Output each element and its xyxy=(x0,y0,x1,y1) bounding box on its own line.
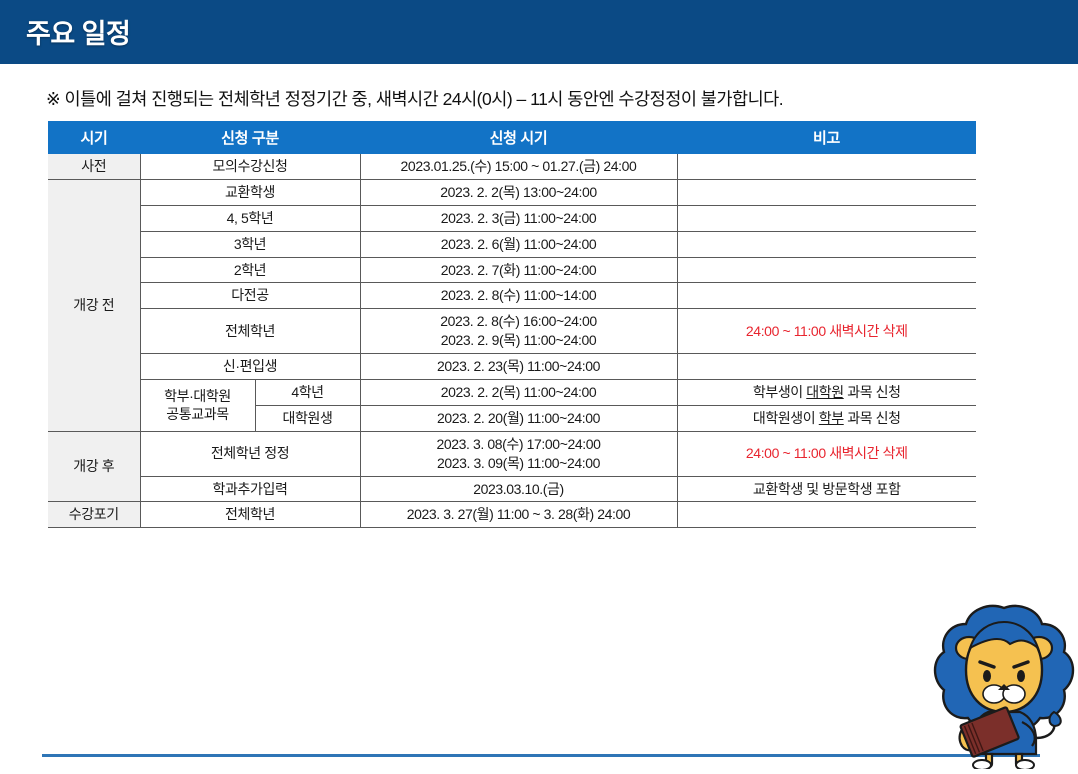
table-row: 3학년 2023. 2. 6(월) 11:00~24:00 xyxy=(48,231,976,257)
cell-note xyxy=(677,154,976,179)
cell-time: 2023. 2. 8(수) 11:00~14:00 xyxy=(360,283,677,309)
cell-note xyxy=(677,179,976,205)
table-row: 학부·대학원 공통교과목 4학년 2023. 2. 2(목) 11:00~24:… xyxy=(48,380,976,406)
cell-subcategory: 4학년 xyxy=(255,380,360,406)
cell-category: 2학년 xyxy=(140,257,360,283)
cell-stage: 개강 전 xyxy=(48,179,140,431)
cell-time-line2: 2023. 3. 09(목) 11:00~24:00 xyxy=(365,454,673,473)
schedule-note: ※ 이틀에 걸쳐 진행되는 전체학년 정정기간 중, 새벽시간 24시(0시) … xyxy=(46,86,783,111)
cell-time: 2023. 2. 7(화) 11:00~24:00 xyxy=(360,257,677,283)
cell-note: 학부생이 대학원 과목 신청 xyxy=(677,380,976,406)
cell-note-alert: 24:00 ~ 11:00 새벽시간 삭제 xyxy=(677,309,976,354)
table-row: 4, 5학년 2023. 2. 3(금) 11:00~24:00 xyxy=(48,205,976,231)
cell-category-group: 학부·대학원 공통교과목 xyxy=(140,380,255,432)
note-prefix: 대학원생이 xyxy=(753,410,819,426)
lion-mascot-icon xyxy=(930,604,1078,769)
cell-time: 2023. 3. 08(수) 17:00~24:00 2023. 3. 09(목… xyxy=(360,431,677,476)
table-row: 사전 모의수강신청 2023.01.25.(수) 15:00 ~ 01.27.(… xyxy=(48,154,976,179)
schedule-table: 시기 신청 구분 신청 시기 비고 사전 모의수강신청 2023.01.25.(… xyxy=(48,121,976,528)
table-header-row: 시기 신청 구분 신청 시기 비고 xyxy=(48,121,976,154)
page-title: 주요 일정 xyxy=(26,12,130,51)
cell-time: 2023. 2. 3(금) 11:00~24:00 xyxy=(360,205,677,231)
table-row: 학과추가입력 2023.03.10.(금) 교환학생 및 방문학생 포함 xyxy=(48,476,976,502)
cell-time: 2023. 2. 2(목) 13:00~24:00 xyxy=(360,179,677,205)
note-suffix: 과목 신청 xyxy=(844,410,901,426)
table-row: 신·편입생 2023. 2. 23(목) 11:00~24:00 xyxy=(48,354,976,380)
cell-note xyxy=(677,205,976,231)
cell-subcategory: 대학원생 xyxy=(255,405,360,431)
cell-time: 2023. 2. 20(월) 11:00~24:00 xyxy=(360,405,677,431)
cell-note-alert: 24:00 ~ 11:00 새벽시간 삭제 xyxy=(677,431,976,476)
cell-category: 전체학년 xyxy=(140,309,360,354)
note-underlined: 대학원 xyxy=(806,384,843,400)
cell-stage: 수강포기 xyxy=(48,502,140,528)
table-row: 수강포기 전체학년 2023. 3. 27(월) 11:00 ~ 3. 28(화… xyxy=(48,502,976,528)
column-header-time: 신청 시기 xyxy=(360,121,677,154)
cell-time-line2: 2023. 2. 9(목) 11:00~24:00 xyxy=(365,331,673,350)
cell-time: 2023.01.25.(수) 15:00 ~ 01.27.(금) 24:00 xyxy=(360,154,677,179)
cell-category: 4, 5학년 xyxy=(140,205,360,231)
header-band xyxy=(0,0,1078,64)
cell-category-group-line2: 공통교과목 xyxy=(145,405,251,424)
column-header-category: 신청 구분 xyxy=(140,121,360,154)
cell-note xyxy=(677,502,976,528)
cell-time: 2023. 2. 6(월) 11:00~24:00 xyxy=(360,231,677,257)
cell-time: 2023.03.10.(금) xyxy=(360,476,677,502)
cell-category: 3학년 xyxy=(140,231,360,257)
cell-stage: 개강 후 xyxy=(48,431,140,502)
cell-category: 모의수강신청 xyxy=(140,154,360,179)
cell-time: 2023. 2. 23(목) 11:00~24:00 xyxy=(360,354,677,380)
cell-note xyxy=(677,257,976,283)
cell-category: 학과추가입력 xyxy=(140,476,360,502)
cell-note: 대학원생이 학부 과목 신청 xyxy=(677,405,976,431)
note-prefix: 학부생이 xyxy=(753,384,806,400)
cell-category: 교환학생 xyxy=(140,179,360,205)
cell-category: 전체학년 정정 xyxy=(140,431,360,476)
cell-category: 다전공 xyxy=(140,283,360,309)
cell-time: 2023. 2. 2(목) 11:00~24:00 xyxy=(360,380,677,406)
cell-note xyxy=(677,354,976,380)
cell-time: 2023. 3. 27(월) 11:00 ~ 3. 28(화) 24:00 xyxy=(360,502,677,528)
cell-note: 교환학생 및 방문학생 포함 xyxy=(677,476,976,502)
table-row: 개강 전 교환학생 2023. 2. 2(목) 13:00~24:00 xyxy=(48,179,976,205)
cell-time-line1: 2023. 2. 8(수) 16:00~24:00 xyxy=(365,312,673,331)
table-row: 개강 후 전체학년 정정 2023. 3. 08(수) 17:00~24:00 … xyxy=(48,431,976,476)
column-header-stage: 시기 xyxy=(48,121,140,154)
cell-category: 신·편입생 xyxy=(140,354,360,380)
cell-time-line1: 2023. 3. 08(수) 17:00~24:00 xyxy=(365,435,673,454)
table-row: 전체학년 2023. 2. 8(수) 16:00~24:00 2023. 2. … xyxy=(48,309,976,354)
table-row: 2학년 2023. 2. 7(화) 11:00~24:00 xyxy=(48,257,976,283)
cell-note xyxy=(677,283,976,309)
table-row: 다전공 2023. 2. 8(수) 11:00~14:00 xyxy=(48,283,976,309)
cell-time: 2023. 2. 8(수) 16:00~24:00 2023. 2. 9(목) … xyxy=(360,309,677,354)
cell-category-group-line1: 학부·대학원 xyxy=(145,387,251,406)
cell-category: 전체학년 xyxy=(140,502,360,528)
note-underlined: 학부 xyxy=(819,410,844,426)
cell-stage: 사전 xyxy=(48,154,140,179)
cell-note xyxy=(677,231,976,257)
bottom-divider xyxy=(42,754,1040,757)
note-suffix: 과목 신청 xyxy=(844,384,901,400)
column-header-note: 비고 xyxy=(677,121,976,154)
